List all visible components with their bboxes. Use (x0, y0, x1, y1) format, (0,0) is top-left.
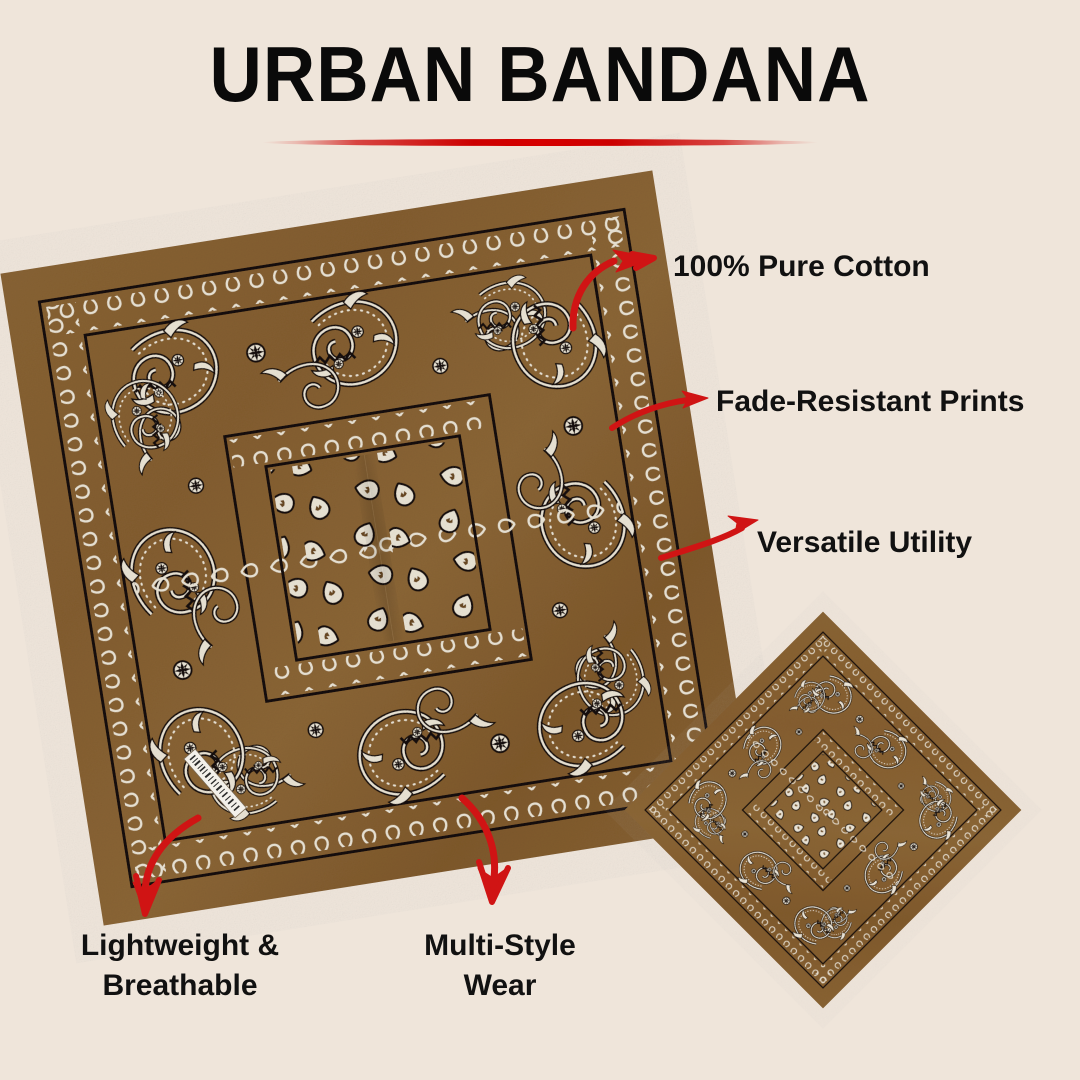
feature-label-fade-resistant: Fade-Resistant Prints (716, 382, 1024, 422)
feature-label-versatile-utility: Versatile Utility (757, 523, 972, 563)
infographic-canvas: URBAN BANDANA 100% Pure Cotton Fade-Resi… (0, 0, 1080, 1080)
feature-label-multistyle-line1: Multi-Style (395, 926, 605, 966)
red-gradient-divider (262, 139, 818, 146)
feature-label-cotton: 100% Pure Cotton (673, 247, 930, 287)
feature-label-lightweight-line2: Breathable (40, 966, 320, 1006)
feature-label-multistyle-line2: Wear (395, 966, 605, 1006)
feature-label-lightweight: Lightweight & Breathable (40, 926, 320, 1006)
page-title: URBAN BANDANA (38, 34, 1042, 116)
feature-label-lightweight-line1: Lightweight & (40, 926, 320, 966)
feature-label-multistyle: Multi-Style Wear (395, 926, 605, 1006)
